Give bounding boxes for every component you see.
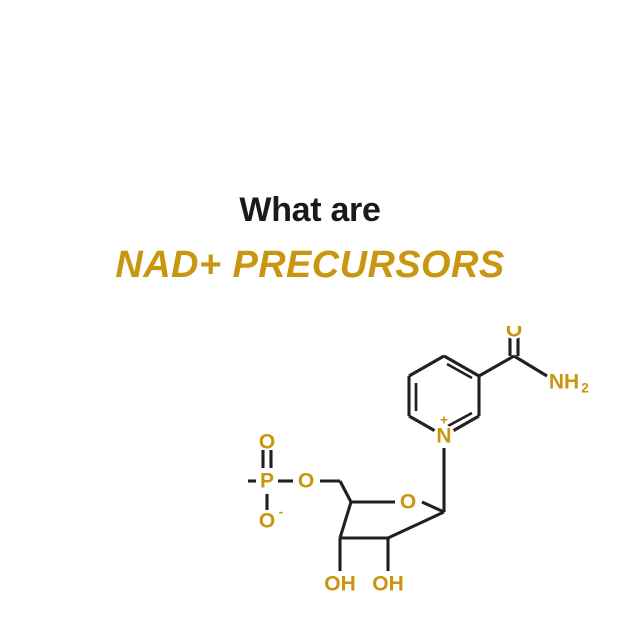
- amide-nitrogen-label: NH: [549, 371, 579, 394]
- bond-inner-n1-c2: [448, 413, 472, 426]
- carbonyl-oxygen-label: O: [506, 326, 522, 342]
- heading-block: What are NAD+ PRECURSORS: [0, 188, 620, 288]
- page-title-line-1: What are: [0, 188, 620, 232]
- phosphate-anion-oxygen-label: O: [259, 510, 275, 533]
- bond-c2p-c1p: [388, 512, 444, 538]
- bond-c1p-o4p: [422, 502, 444, 512]
- molecule-diagram: N + O NH 2: [248, 326, 620, 608]
- phosphorus-label: P: [260, 470, 274, 493]
- ester-oxygen-label: O: [298, 470, 314, 493]
- nmn-skeletal-structure: N + O NH 2: [248, 326, 620, 608]
- ring-nitrogen-charge-label: +: [440, 412, 448, 428]
- page-title-line-2: NAD+ PRECURSORS: [0, 242, 620, 288]
- hydroxyl-2prime-label: OH: [372, 573, 404, 596]
- ring-nitrogen-label: N: [436, 425, 451, 448]
- ribose-ring: [340, 502, 444, 538]
- ribose-ring-oxygen-label: O: [400, 491, 416, 514]
- slide-canvas: What are NAD+ PRECURSORS N +: [0, 0, 620, 620]
- amide-subscript-label: 2: [581, 380, 589, 396]
- phosphate-double-oxygen-label: O: [259, 431, 275, 454]
- bond-c3-carbonyl: [479, 356, 514, 376]
- phosphate-anion-charge-label: -: [279, 504, 284, 520]
- bond-c4p-c5p: [340, 481, 351, 502]
- bond-c4p-c3p: [340, 502, 351, 538]
- hydroxyl-3prime-label: OH: [324, 573, 356, 596]
- bond-c4-c5: [409, 356, 444, 376]
- bond-carbonyl-namide: [514, 356, 547, 376]
